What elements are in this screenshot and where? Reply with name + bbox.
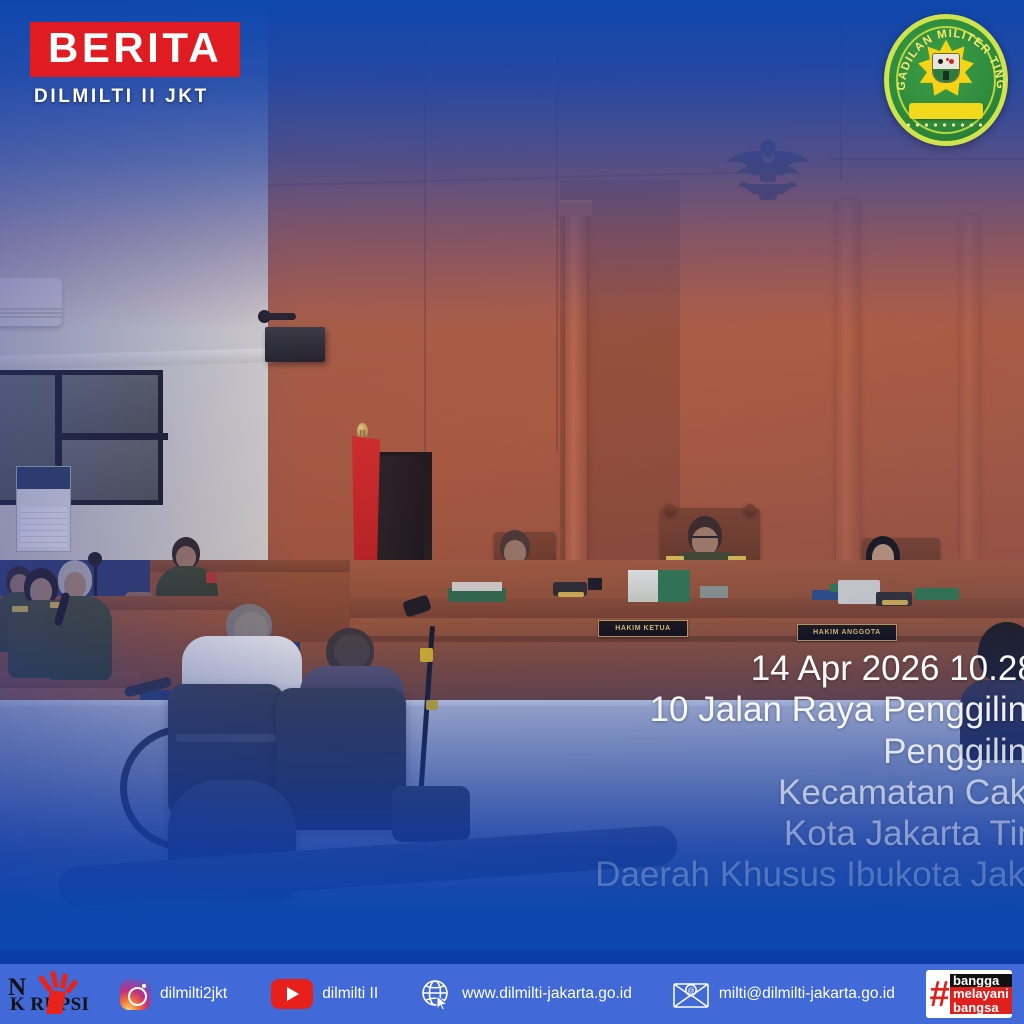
- gps-camera-watermark: 14 Apr 2026 10.28.0 10 Jalan Raya Penggi…: [426, 648, 1024, 896]
- youtube-icon[interactable]: [271, 979, 313, 1009]
- social-media-news-card: HAKIM KETUA HAKIM ANGGOTA: [0, 0, 1024, 1024]
- hashtag-icon: #: [929, 976, 949, 1012]
- instagram-handle[interactable]: dilmilti2jkt: [160, 985, 227, 1003]
- watermark-address-line-4: Kota Jakarta Timu: [426, 813, 1024, 854]
- bangga-word-1: bangga: [950, 974, 1012, 987]
- bangga-word-3: bangsa: [950, 1001, 1012, 1014]
- website-url[interactable]: www.dilmilti-jakarta.go.id: [462, 985, 632, 1003]
- red-hand-icon: [32, 970, 80, 1016]
- bangga-word-2: melayani: [950, 987, 1012, 1000]
- instagram-link[interactable]: dilmilti2jkt: [120, 979, 227, 1010]
- globe-icon[interactable]: [420, 978, 453, 1011]
- email-link[interactable]: @ milti@dilmilti-jakarta.go.id: [672, 980, 895, 1009]
- youtube-link[interactable]: dilmilti II: [271, 979, 378, 1009]
- berita-title: BERITA: [30, 22, 240, 77]
- watermark-address-line-1: 10 Jalan Raya Penggilinga: [426, 689, 1024, 730]
- youtube-handle[interactable]: dilmilti II: [322, 985, 378, 1003]
- svg-text:PENGADILAN MILITER TINGGI II: PENGADILAN MILITER TINGGI II: [889, 19, 1006, 91]
- footer-top-strip: [0, 950, 1024, 964]
- bangga-melayani-bangsa-logo: # bangga melayani bangsa: [926, 970, 1012, 1018]
- instagram-icon[interactable]: [120, 979, 151, 1010]
- footer-bar: N K RUPSI dilmilti2jkt: [0, 950, 1024, 1024]
- email-icon[interactable]: @: [672, 980, 710, 1009]
- watermark-timestamp: 14 Apr 2026 10.28.0: [426, 648, 1024, 689]
- berita-subtitle: DILMILTI II JKT: [34, 86, 240, 108]
- footer-content: N K RUPSI dilmilti2jkt: [0, 964, 1024, 1024]
- berita-badge: BERITA DILMILTI II JKT: [30, 22, 240, 108]
- email-address[interactable]: milti@dilmilti-jakarta.go.id: [719, 985, 895, 1003]
- no-korupsi-logo: N K RUPSI: [6, 972, 90, 1016]
- watermark-address-line-2: Penggilinga: [426, 731, 1024, 772]
- logo-ring-text: PENGADILAN MILITER TINGGI II: [889, 19, 1003, 141]
- pengadilan-militer-tinggi-ii-logo: PENGADILAN MILITER TINGGI II: [884, 14, 1008, 146]
- watermark-address-line-5: Daerah Khusus Ibukota Jakart: [426, 854, 1024, 895]
- watermark-address-line-3: Kecamatan Cakun: [426, 772, 1024, 813]
- logo-oval: PENGADILAN MILITER TINGGI II: [884, 14, 1008, 146]
- website-link[interactable]: www.dilmilti-jakarta.go.id: [420, 978, 632, 1011]
- svg-text:@: @: [687, 988, 694, 995]
